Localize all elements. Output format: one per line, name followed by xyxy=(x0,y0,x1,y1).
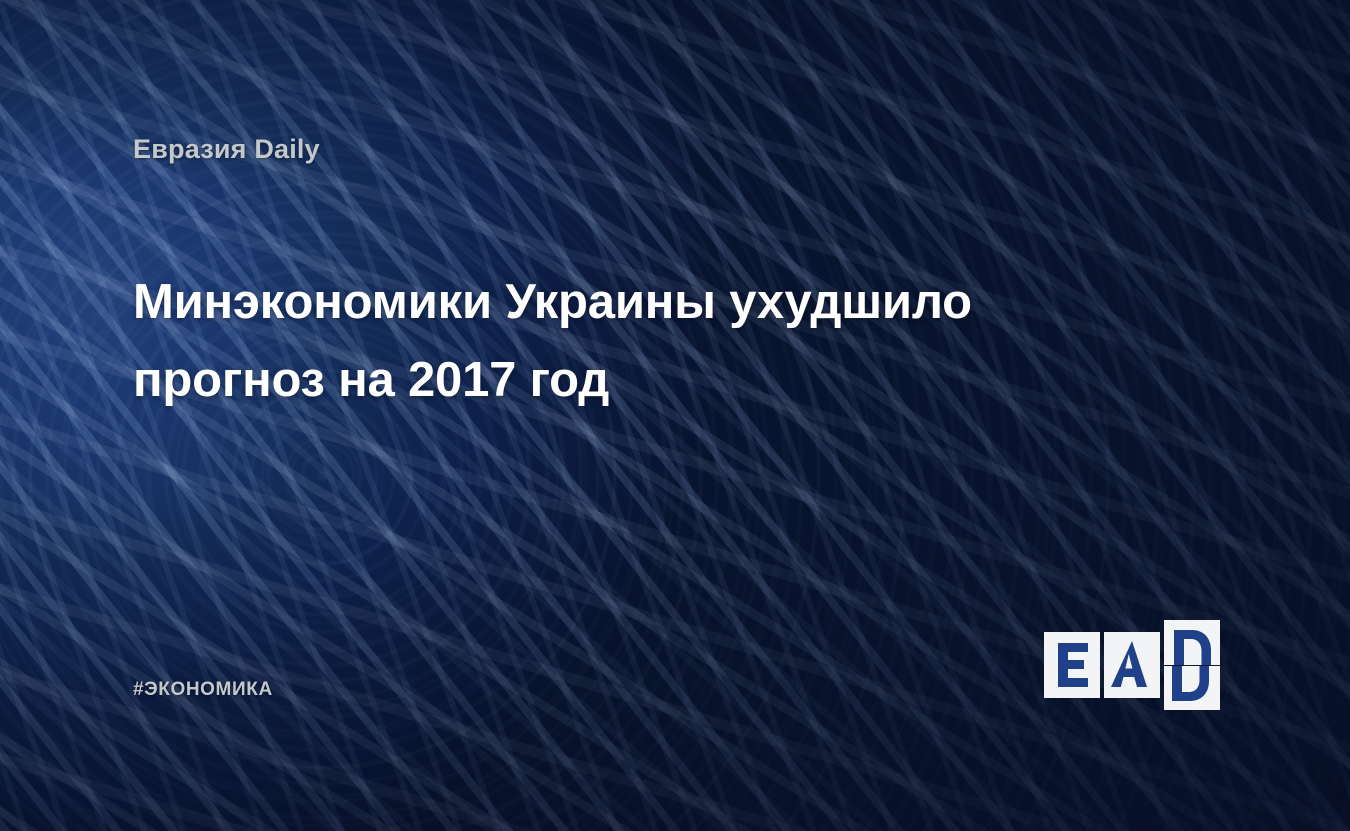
eadaily-logo-svg xyxy=(1044,620,1220,710)
logo-letter-e xyxy=(1058,643,1088,687)
brand-name: Евразия Daily xyxy=(133,134,320,165)
news-card: Евразия Daily Минэкономики Украины ухудш… xyxy=(0,0,1350,831)
category-hashtag: #ЭКОНОМИКА xyxy=(133,679,273,701)
card-content: Евразия Daily Минэкономики Украины ухудш… xyxy=(0,0,1350,831)
page-title: Минэкономики Украины ухудшило прогноз на… xyxy=(133,263,1093,419)
logo-tile-d-upper xyxy=(1164,620,1220,665)
eadaily-logo xyxy=(1044,620,1220,710)
